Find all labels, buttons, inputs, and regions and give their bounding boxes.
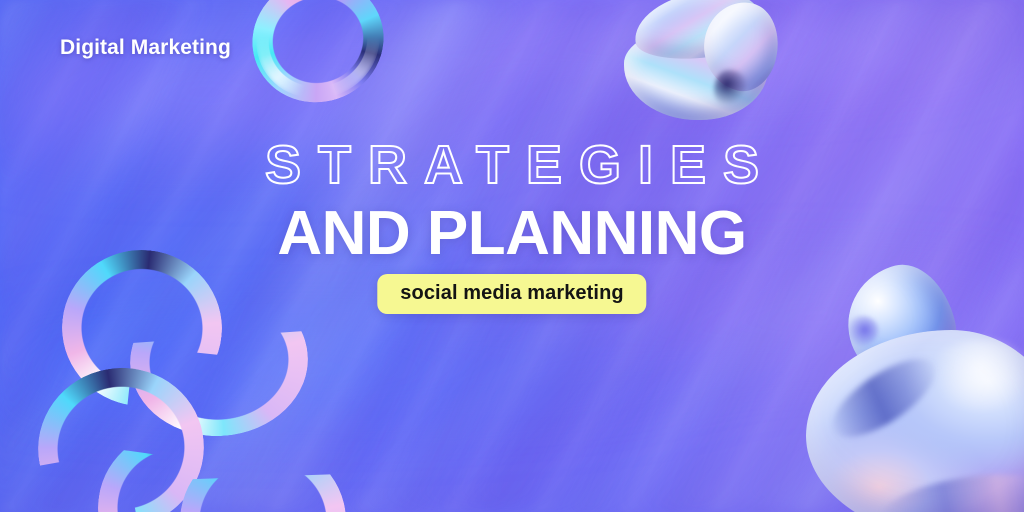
poster-content: Digital Marketing STRATEGIES AND PLANNIN…: [0, 0, 1024, 512]
marketing-poster: Digital Marketing STRATEGIES AND PLANNIN…: [0, 0, 1024, 512]
headline-outline-text: STRATEGIES: [0, 138, 1024, 192]
headline-solid-text: AND PLANNING: [0, 203, 1024, 265]
subtitle-badge: social media marketing: [377, 274, 646, 314]
eyebrow-label: Digital Marketing: [60, 36, 231, 60]
